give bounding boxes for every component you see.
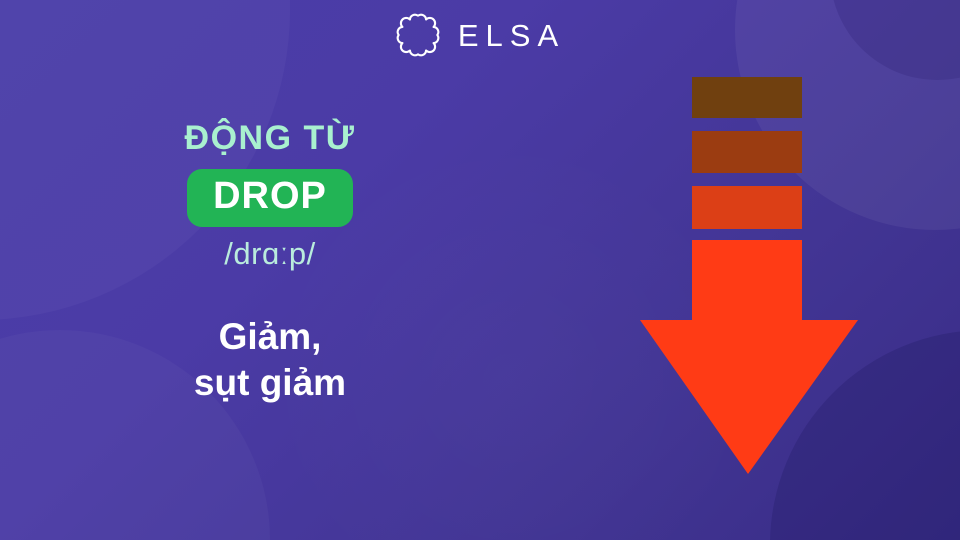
downward-arrow-icon [600,60,900,490]
brand-name: ELSA [455,20,565,51]
vocabulary-card: ELSA ĐỘNG TỪ DROP /drɑːp/ Giảm, sụt giảm [0,0,960,540]
elsa-star-flower-icon [395,12,441,58]
meaning-translation: Giảm, sụt giảm [90,314,450,407]
arrow-down-shape [640,240,858,474]
vocabulary-word-badge: DROP [187,169,353,227]
word-info-block: ĐỘNG TỪ DROP /drɑːp/ Giảm, sụt giảm [90,120,450,406]
word-badge-row: DROP [90,169,450,227]
meaning-line-2: sụt giảm [90,360,450,406]
brand-header: ELSA [0,12,960,58]
part-of-speech-label: ĐỘNG TỪ [90,120,450,157]
meaning-line-1: Giảm, [90,314,450,360]
declining-bar-3 [692,186,802,229]
declining-bars-arrow-illustration [600,60,900,490]
phonetic-transcription: /drɑːp/ [90,236,450,272]
declining-bar-2 [692,131,802,173]
declining-bar-1 [692,77,802,118]
